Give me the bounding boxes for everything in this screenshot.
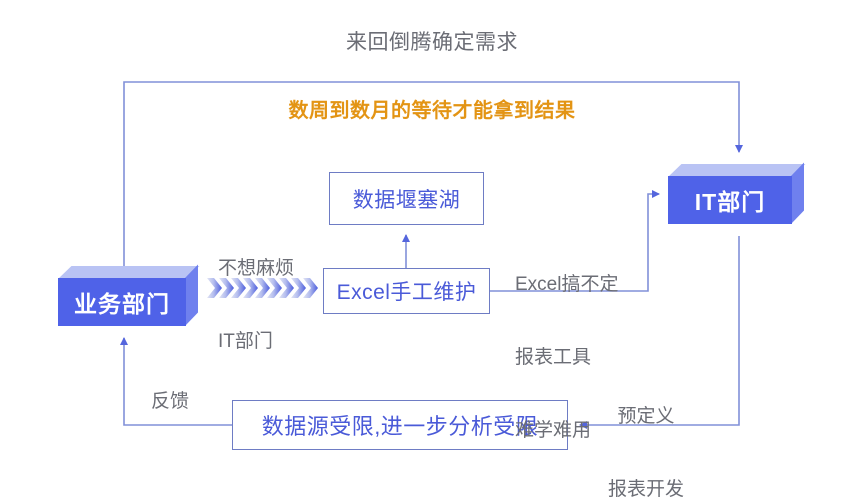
page-title: 来回倒腾确定需求 [0, 30, 864, 57]
annotation-feedback: 反馈 [151, 390, 189, 414]
diagram-canvas: 来回倒腾确定需求 数周到数月的等待才能拿到结果 IT部门 业务部门 数据堰塞湖 … [0, 0, 864, 501]
node-it-department[interactable]: IT部门 [668, 164, 792, 224]
node-data-dam-lake-label: 数据堰塞湖 [353, 184, 461, 214]
annotation-line-2: 报表开发 [608, 478, 684, 501]
node-data-dam-lake[interactable]: 数据堰塞湖 [329, 172, 484, 225]
node-business-department-label: 业务部门 [58, 278, 186, 326]
annotation-predefined-report: 预定义 报表开发 [608, 356, 684, 501]
annotation-line-1: 不想麻烦 [218, 257, 294, 281]
annotation-line-2: IT部门 [218, 330, 294, 354]
node-excel-manual[interactable]: Excel手工维护 [323, 268, 490, 314]
node-limited-data-source-label: 数据源受限,进一步分析受限 [262, 409, 539, 441]
node-excel-manual-label: Excel手工维护 [337, 276, 477, 306]
annotation-dont-bother-it: 不想麻烦 IT部门 [218, 208, 294, 403]
annotation-line-1: Excel搞不定 [515, 273, 618, 297]
annotation-line-3: 难学难用 [515, 419, 618, 443]
node-it-department-label: IT部门 [668, 176, 792, 224]
annotation-line-1: 预定义 [608, 405, 684, 429]
node-business-department[interactable]: 业务部门 [58, 266, 186, 326]
highlight-caption: 数周到数月的等待才能拿到结果 [0, 99, 864, 125]
annotation-line-2: 报表工具 [515, 346, 618, 370]
annotation-excel-insufficient: Excel搞不定 报表工具 难学难用 [515, 224, 618, 491]
